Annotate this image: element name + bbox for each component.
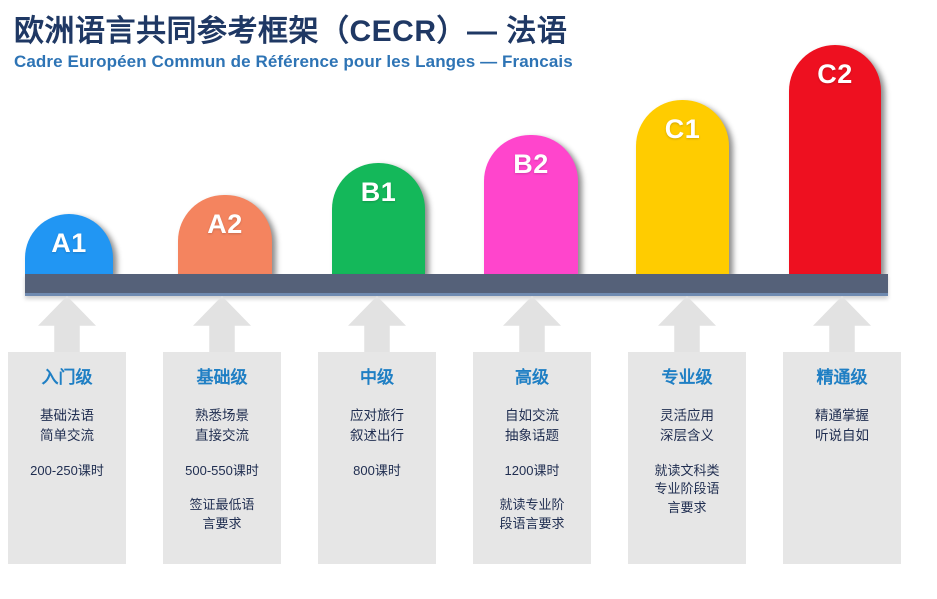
level-bar-label: B1 [361,177,397,208]
level-card-note: 就读专业阶 段语言要求 [479,496,585,534]
level-bar-label: C1 [665,114,701,145]
up-arrow-icon [813,296,871,358]
level-bar-b2[interactable]: B2 [484,135,578,275]
level-card-c2[interactable]: 精通级 精通掌握 听说自如 [783,352,901,564]
level-card-description: 灵活应用 深层含义 [634,406,740,445]
level-card-title: 高级 [479,368,585,388]
level-card-hours: 200-250课时 [14,462,120,481]
level-bar-label: A2 [207,209,243,240]
page-subtitle: Cadre Européen Commun de Référence pour … [14,52,914,72]
level-card-description: 自如交流 抽象话题 [479,406,585,445]
level-bar-c1[interactable]: C1 [636,100,729,275]
level-card-hours: 1200课时 [479,462,585,481]
level-card-hours: 800课时 [324,462,430,481]
level-card-title: 中级 [324,368,430,388]
level-card-description: 应对旅行 叙述出行 [324,406,430,445]
level-card-hours: 500-550课时 [169,462,275,481]
level-card-a1[interactable]: 入门级 基础法语 简单交流 200-250课时 [8,352,126,564]
header: 欧洲语言共同参考框架（CECR）— 法语 Cadre Européen Comm… [14,14,914,72]
up-arrow-icon [348,296,406,358]
up-arrow-icon [503,296,561,358]
level-bar-a1[interactable]: A1 [25,214,113,275]
baseline-plank [25,274,888,296]
level-bar-label: B2 [513,149,549,180]
level-bar-c2[interactable]: C2 [789,45,881,275]
level-card-note: 签证最低语 言要求 [169,496,275,534]
up-arrow-icon [38,296,96,358]
level-bar-label: A1 [51,228,87,259]
cecr-level-chart: A1 A2 B1 B2 C1 C2 入门级 基础法语 简单交流 200-250课… [0,0,937,599]
up-arrow-icon [193,296,251,358]
level-card-title: 专业级 [634,368,740,388]
level-bar-label: C2 [817,59,853,90]
level-card-description: 基础法语 简单交流 [14,406,120,445]
up-arrow-icon [658,296,716,358]
level-card-title: 入门级 [14,368,120,388]
level-card-b1[interactable]: 中级 应对旅行 叙述出行 800课时 [318,352,436,564]
level-bar-b1[interactable]: B1 [332,163,425,275]
level-bar-a2[interactable]: A2 [178,195,272,275]
level-card-c1[interactable]: 专业级 灵活应用 深层含义 就读文科类 专业阶段语 言要求 [628,352,746,564]
level-card-b2[interactable]: 高级 自如交流 抽象话题 1200课时 就读专业阶 段语言要求 [473,352,591,564]
level-card-title: 基础级 [169,368,275,388]
level-card-description: 熟悉场景 直接交流 [169,406,275,445]
level-card-description: 精通掌握 听说自如 [789,406,895,445]
level-card-a2[interactable]: 基础级 熟悉场景 直接交流 500-550课时 签证最低语 言要求 [163,352,281,564]
level-card-title: 精通级 [789,368,895,388]
page-title: 欧洲语言共同参考框架（CECR）— 法语 [14,14,914,49]
level-card-hours: 就读文科类 专业阶段语 言要求 [634,462,740,519]
